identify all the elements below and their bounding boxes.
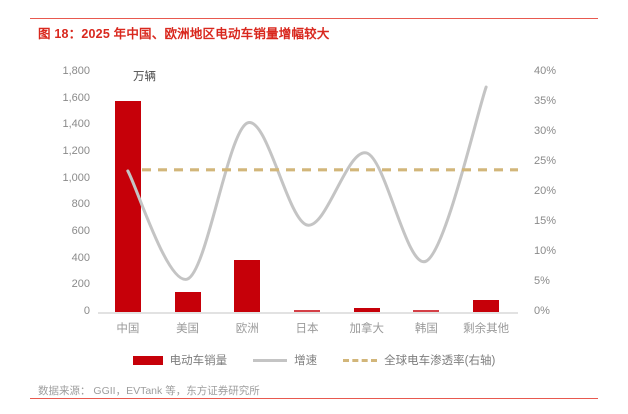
y-axis-left-tick: 0 <box>44 305 90 317</box>
growth-rate-line <box>128 87 486 279</box>
source-note: 数据来源： GGII，EVTank 等，东方证券研究所 <box>38 383 260 398</box>
y-axis-right-tick: 35% <box>534 95 580 107</box>
y-axis-right-tick: 30% <box>534 125 580 137</box>
y-axis-right-tick: 5% <box>534 275 580 287</box>
y-axis-right-tick: 20% <box>534 185 580 197</box>
y-axis-left-tick: 200 <box>44 278 90 290</box>
line-series-overlay <box>98 72 516 312</box>
figure-title: 图 18：2025 年中国、欧洲地区电动车销量增幅较大 <box>38 23 330 42</box>
chart-legend: 电动车销量增速全球电车渗透率(右轴) <box>0 352 628 368</box>
y-axis-left-tick: 400 <box>44 252 90 264</box>
y-axis-left-tick: 600 <box>44 225 90 237</box>
legend-item[interactable]: 电动车销量 <box>133 352 228 368</box>
y-axis-right-tick: 15% <box>534 215 580 227</box>
legend-swatch-bar-icon <box>133 356 163 365</box>
x-axis-line <box>98 312 518 314</box>
legend-label: 电动车销量 <box>170 352 228 368</box>
legend-item[interactable]: 全球电车渗透率(右轴) <box>343 352 495 368</box>
legend-label: 增速 <box>294 352 317 368</box>
y-axis-left-tick: 1,800 <box>44 65 90 77</box>
y-axis-left-tick: 800 <box>44 198 90 210</box>
legend-swatch-dashed-icon <box>343 359 377 362</box>
y-axis-right-tick: 40% <box>534 65 580 77</box>
y-axis-right-tick: 25% <box>534 155 580 167</box>
y-axis-left-tick: 1,400 <box>44 118 90 130</box>
x-axis-category-label: 剩余其他 <box>446 320 526 336</box>
y-axis-right-tick: 0% <box>534 305 580 317</box>
y-axis-right-tick: 10% <box>534 245 580 257</box>
y-axis-left-tick: 1,200 <box>44 145 90 157</box>
legend-label: 全球电车渗透率(右轴) <box>384 352 495 368</box>
legend-swatch-line-icon <box>253 359 287 362</box>
legend-item[interactable]: 增速 <box>253 352 317 368</box>
y-axis-left-tick: 1,600 <box>44 92 90 104</box>
plot-area <box>98 72 516 312</box>
y-axis-left-tick: 1,000 <box>44 172 90 184</box>
